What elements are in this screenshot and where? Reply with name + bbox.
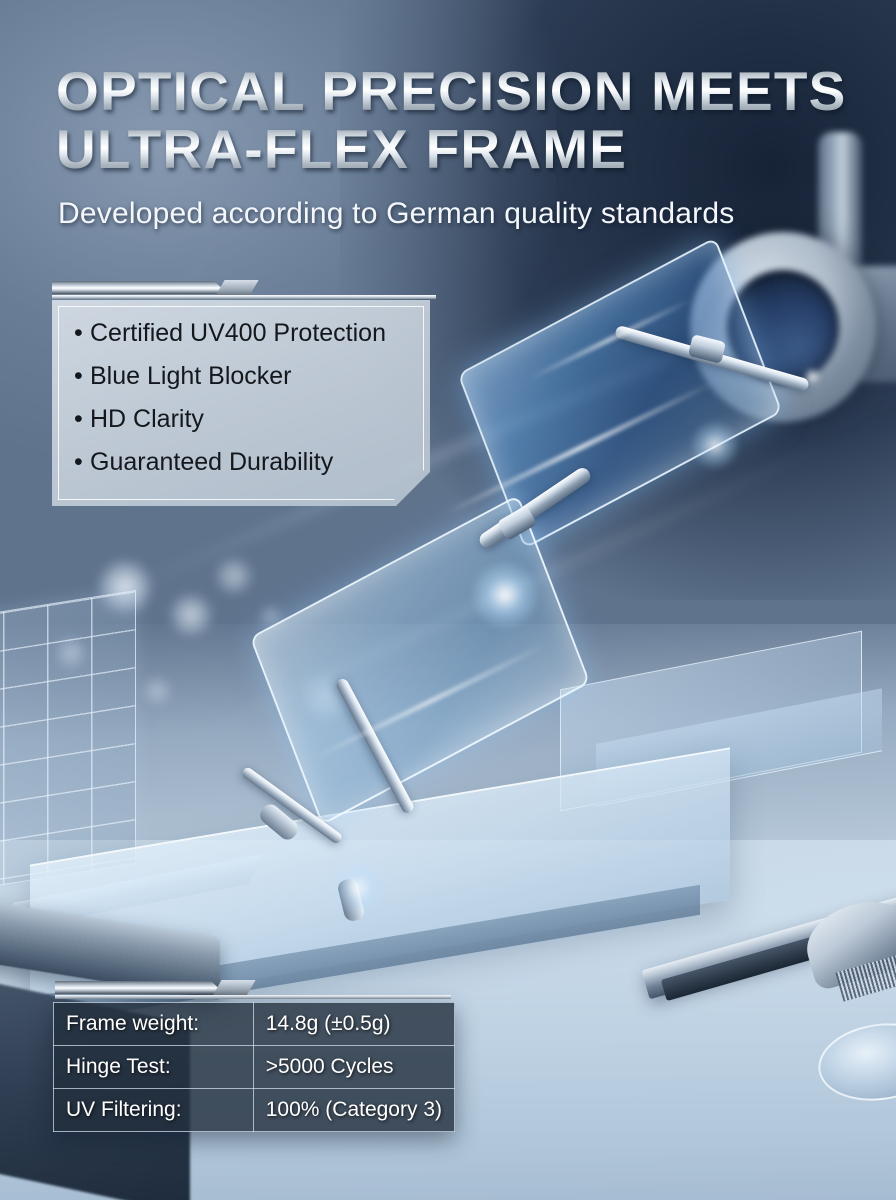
spec-table-wrapper: Frame weight: 14.8g (±0.5g) Hinge Test: … <box>53 1002 455 1132</box>
lens-left <box>250 495 591 826</box>
spec-label: UV Filtering: <box>54 1089 254 1132</box>
product-advertisement: OPTICAL PRECISION MEETS ULTRA-FLEX FRAME… <box>0 0 896 1200</box>
headline-line-1: OPTICAL PRECISION MEETS <box>56 62 856 120</box>
light-flare <box>330 860 386 916</box>
table-row: UV Filtering: 100% (Category 3) <box>54 1089 455 1132</box>
feature-label: Certified UV400 Protection <box>90 319 386 347</box>
headline: OPTICAL PRECISION MEETS ULTRA-FLEX FRAME <box>56 62 856 179</box>
bullet-icon: • <box>74 364 90 389</box>
spec-value: >5000 Cycles <box>253 1046 454 1089</box>
spec-value: 100% (Category 3) <box>253 1089 454 1132</box>
feature-list: •Certified UV400 Protection •Blue Light … <box>74 312 386 484</box>
spec-label: Hinge Test: <box>54 1046 254 1089</box>
list-item: •Blue Light Blocker <box>74 355 386 389</box>
spec-label: Frame weight: <box>54 1003 254 1046</box>
light-flare <box>470 560 540 630</box>
bullet-icon: • <box>74 450 90 475</box>
table-row: Hinge Test: >5000 Cycles <box>54 1046 455 1089</box>
table-row: Frame weight: 14.8g (±0.5g) <box>54 1003 455 1046</box>
feature-label: HD Clarity <box>90 405 204 433</box>
list-item: •Guaranteed Durability <box>74 441 386 475</box>
list-item: •HD Clarity <box>74 398 386 432</box>
subtitle: Developed according to German quality st… <box>58 197 734 231</box>
feature-panel: •Certified UV400 Protection •Blue Light … <box>52 300 430 506</box>
spec-value: 14.8g (±0.5g) <box>253 1003 454 1046</box>
light-flare <box>690 420 740 470</box>
feature-label: Blue Light Blocker <box>90 362 292 390</box>
feature-label: Guaranteed Durability <box>90 448 333 476</box>
bullet-icon: • <box>74 321 90 346</box>
bullet-icon: • <box>74 407 90 432</box>
list-item: •Certified UV400 Protection <box>74 312 386 346</box>
headline-line-2: ULTRA-FLEX FRAME <box>56 120 856 178</box>
spec-table: Frame weight: 14.8g (±0.5g) Hinge Test: … <box>53 1002 455 1132</box>
